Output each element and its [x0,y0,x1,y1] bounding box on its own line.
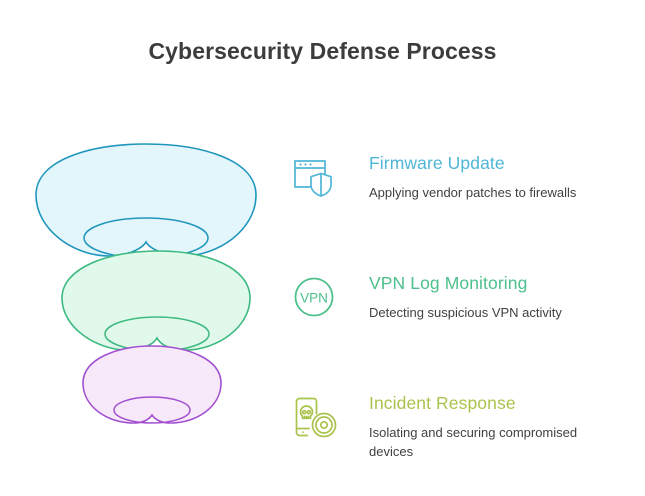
page-title: Cybersecurity Defense Process [0,38,645,65]
step-title: Incident Response [369,392,635,414]
step-vpn-log-monitoring: VPN VPN Log Monitoring Detecting suspici… [289,272,635,376]
step-description: Detecting suspicious VPN activity [369,303,617,322]
step-firmware-update: Firmware Update Applying vendor patches … [289,152,635,256]
incident-layer-outer [83,346,221,423]
vpn-layer-outer [62,251,250,350]
firmware-layer-outer [36,144,256,256]
step-title: Firmware Update [369,152,635,174]
svg-text:VPN: VPN [300,291,328,306]
step-description: Isolating and securing compromised devic… [369,423,617,461]
phone-skull-disc-icon [291,394,339,442]
steps-list: Firmware Update Applying vendor patches … [289,148,635,496]
vpn-circle-icon: VPN [291,274,339,322]
funnel-layer-incident-response [83,346,221,423]
funnel-layer-vpn-log-monitoring [62,251,250,351]
step-incident-response: Incident Response Isolating and securing… [289,392,635,496]
step-title: VPN Log Monitoring [369,272,635,294]
step-description: Applying vendor patches to firewalls [369,183,617,202]
funnel-layer-firmware-update [36,144,256,258]
infographic-canvas: Cybersecurity Defense Process [0,0,645,490]
stacked-funnel-diagram [18,138,293,448]
browser-shield-icon [291,154,339,202]
